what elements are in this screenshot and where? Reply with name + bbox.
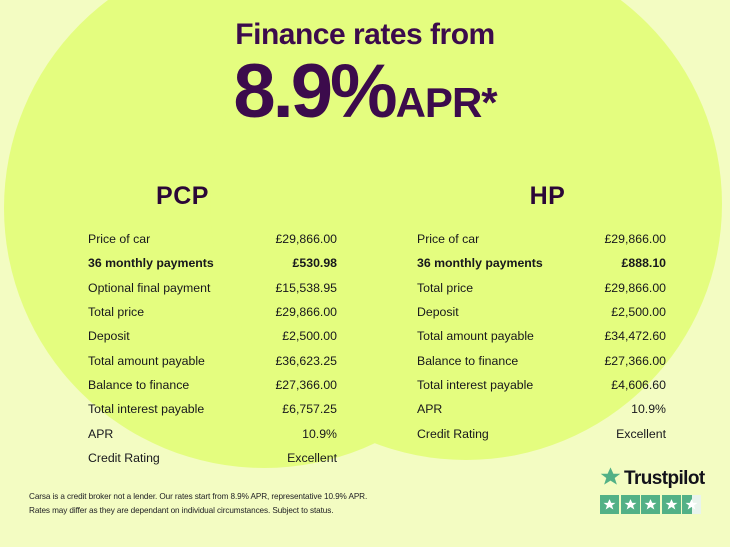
trustpilot-name: Trustpilot bbox=[624, 468, 705, 490]
table-row: Credit Rating Excellent bbox=[417, 422, 666, 446]
hp-table-body: Price of car £29,866.00 36 monthly payme… bbox=[417, 227, 666, 446]
trustpilot-star-rating bbox=[600, 495, 712, 514]
disclaimer-line-2: Rates may differ as they are dependant o… bbox=[29, 504, 449, 518]
row-value: £34,472.60 bbox=[584, 324, 666, 348]
table-row: Optional final payment £15,538.95 bbox=[88, 276, 337, 300]
row-label: Credit Rating bbox=[417, 422, 584, 446]
row-value: Excellent bbox=[584, 422, 666, 446]
rating-star-icon-2 bbox=[621, 495, 640, 514]
table-row: Balance to finance £27,366.00 bbox=[88, 373, 337, 397]
headline-rate-row: 8.9% APR* bbox=[0, 55, 730, 129]
row-value: 10.9% bbox=[255, 422, 337, 446]
row-label: Total price bbox=[88, 300, 255, 324]
row-value: £4,606.60 bbox=[584, 373, 666, 397]
row-label: 36 monthly payments bbox=[417, 251, 584, 275]
row-label: Price of car bbox=[417, 227, 584, 251]
hp-table: Price of car £29,866.00 36 monthly payme… bbox=[417, 227, 666, 446]
headline-kicker: Finance rates from bbox=[0, 18, 730, 51]
table-row: Total amount payable £34,472.60 bbox=[417, 324, 666, 348]
table-row: Balance to finance £27,366.00 bbox=[417, 349, 666, 373]
row-label: Deposit bbox=[417, 300, 584, 324]
table-row: APR 10.9% bbox=[88, 422, 337, 446]
table-row: Price of car £29,866.00 bbox=[88, 227, 337, 251]
table-row: Credit Rating Excellent bbox=[88, 446, 337, 470]
row-label: Price of car bbox=[88, 227, 255, 251]
row-label: Optional final payment bbox=[88, 276, 255, 300]
row-value: 10.9% bbox=[584, 397, 666, 421]
row-value: £2,500.00 bbox=[584, 300, 666, 324]
row-value: £530.98 bbox=[255, 251, 337, 275]
row-value: £29,866.00 bbox=[584, 227, 666, 251]
row-label: Deposit bbox=[88, 324, 255, 348]
headline-block: Finance rates from 8.9% APR* bbox=[0, 18, 730, 129]
pcp-table: Price of car £29,866.00 36 monthly payme… bbox=[88, 227, 337, 470]
table-row: 36 monthly payments £888.10 bbox=[417, 251, 666, 275]
finance-column-pcp: PCP Price of car £29,866.00 36 monthly p… bbox=[0, 182, 365, 470]
row-value: £888.10 bbox=[584, 251, 666, 275]
rating-star-icon-4 bbox=[662, 495, 681, 514]
row-value: £27,366.00 bbox=[584, 349, 666, 373]
table-row: APR 10.9% bbox=[417, 397, 666, 421]
headline-apr-suffix: APR* bbox=[396, 82, 497, 124]
promo-canvas: Finance rates from 8.9% APR* PCP Price o… bbox=[0, 0, 730, 547]
finance-column-hp: HP Price of car £29,866.00 36 monthly pa… bbox=[365, 182, 730, 470]
table-row: Total price £29,866.00 bbox=[88, 300, 337, 324]
column-title-hp: HP bbox=[365, 182, 730, 211]
column-title-pcp: PCP bbox=[0, 182, 365, 211]
row-label: Total interest payable bbox=[88, 397, 255, 421]
row-label: Total interest payable bbox=[417, 373, 584, 397]
row-label: Total amount payable bbox=[88, 349, 255, 373]
row-value: £29,866.00 bbox=[584, 276, 666, 300]
row-value: £6,757.25 bbox=[255, 397, 337, 421]
table-row: Price of car £29,866.00 bbox=[417, 227, 666, 251]
table-row: Total interest payable £4,606.60 bbox=[417, 373, 666, 397]
table-row: Deposit £2,500.00 bbox=[88, 324, 337, 348]
headline-rate: 8.9% bbox=[233, 55, 394, 129]
row-label: Balance to finance bbox=[88, 373, 255, 397]
row-value: Excellent bbox=[255, 446, 337, 470]
table-row: 36 monthly payments £530.98 bbox=[88, 251, 337, 275]
table-row: Deposit £2,500.00 bbox=[417, 300, 666, 324]
row-value: £2,500.00 bbox=[255, 324, 337, 348]
disclaimer-text: Carsa is a credit broker not a lender. O… bbox=[29, 490, 449, 517]
trustpilot-star-icon bbox=[600, 466, 621, 492]
row-label: Total price bbox=[417, 276, 584, 300]
row-value: £29,866.00 bbox=[255, 227, 337, 251]
rating-star-icon-1 bbox=[600, 495, 619, 514]
row-value: £36,623.25 bbox=[255, 349, 337, 373]
rating-star-icon-5-half bbox=[682, 495, 701, 514]
pcp-table-body: Price of car £29,866.00 36 monthly payme… bbox=[88, 227, 337, 470]
finance-comparison: PCP Price of car £29,866.00 36 monthly p… bbox=[0, 182, 730, 470]
table-row: Total amount payable £36,623.25 bbox=[88, 349, 337, 373]
trustpilot-badge[interactable]: Trustpilot bbox=[600, 466, 712, 514]
table-row: Total price £29,866.00 bbox=[417, 276, 666, 300]
row-label: Balance to finance bbox=[417, 349, 584, 373]
row-label: Credit Rating bbox=[88, 446, 255, 470]
row-value: £29,866.00 bbox=[255, 300, 337, 324]
row-label: Total amount payable bbox=[417, 324, 584, 348]
row-value: £27,366.00 bbox=[255, 373, 337, 397]
row-label: APR bbox=[417, 397, 584, 421]
rating-star-icon-3 bbox=[641, 495, 660, 514]
row-value: £15,538.95 bbox=[255, 276, 337, 300]
disclaimer-line-1: Carsa is a credit broker not a lender. O… bbox=[29, 490, 449, 504]
trustpilot-wordmark: Trustpilot bbox=[600, 466, 712, 492]
table-row: Total interest payable £6,757.25 bbox=[88, 397, 337, 421]
row-label: 36 monthly payments bbox=[88, 251, 255, 275]
row-label: APR bbox=[88, 422, 255, 446]
